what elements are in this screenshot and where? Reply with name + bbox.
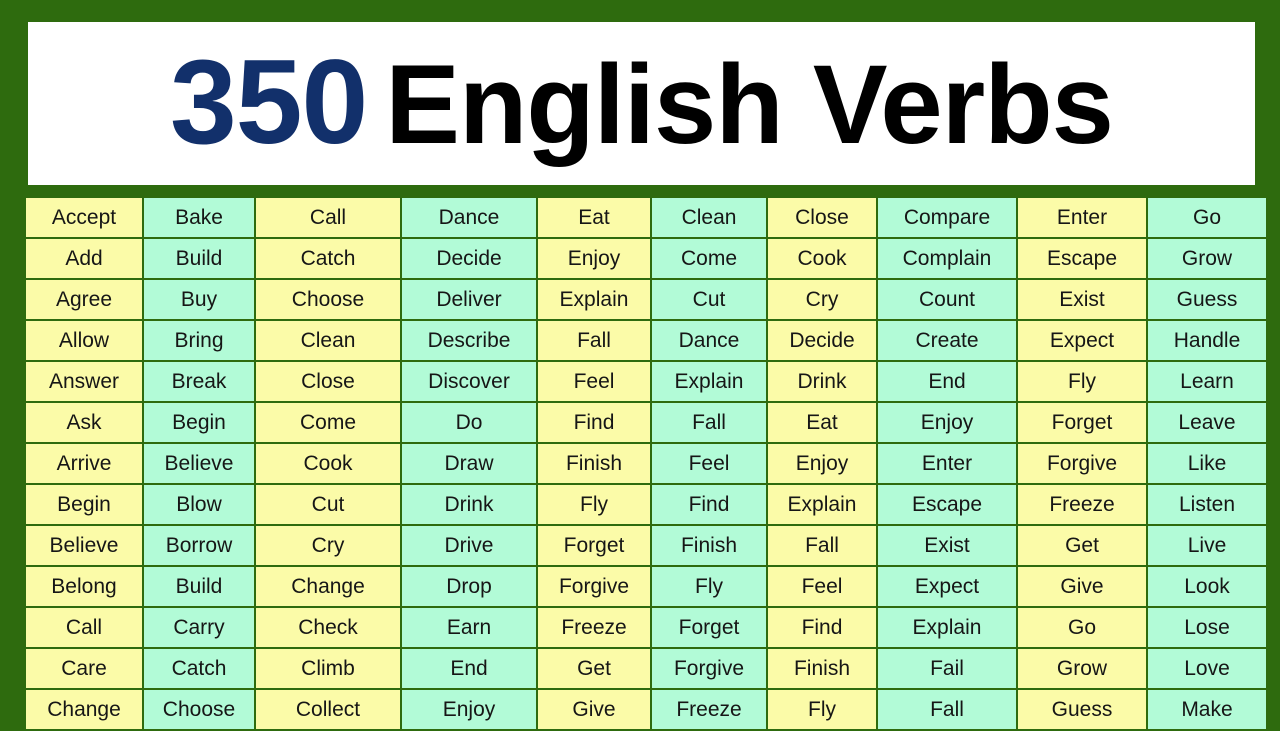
verb-cell: Fall [537, 320, 651, 361]
verb-cell: Look [1147, 566, 1267, 607]
verb-cell: Accept [25, 197, 143, 238]
verb-cell: Go [1017, 607, 1147, 648]
verb-cell: Count [877, 279, 1017, 320]
verb-cell: Explain [877, 607, 1017, 648]
table-row: BeginBlowCutDrinkFlyFindExplainEscapeFre… [25, 484, 1267, 525]
verb-cell: Clean [255, 320, 401, 361]
page-title: 350 English Verbs [170, 42, 1113, 162]
verb-cell: Discover [401, 361, 537, 402]
verb-cell: Climb [255, 648, 401, 689]
verb-cell: Handle [1147, 320, 1267, 361]
verb-cell: Fly [1017, 361, 1147, 402]
verb-cell: End [877, 361, 1017, 402]
verb-cell: Call [255, 197, 401, 238]
verb-cell: Exist [877, 525, 1017, 566]
verb-cell: Fly [537, 484, 651, 525]
table-row: AllowBringCleanDescribeFallDanceDecideCr… [25, 320, 1267, 361]
verb-cell: Decide [401, 238, 537, 279]
verb-cell: Add [25, 238, 143, 279]
verb-cell: Begin [143, 402, 255, 443]
verb-cell: Find [767, 607, 877, 648]
verb-cell: Feel [537, 361, 651, 402]
verb-cell: Earn [401, 607, 537, 648]
verb-cell: Find [651, 484, 767, 525]
verb-cell: Guess [1017, 689, 1147, 730]
verb-cell: Explain [651, 361, 767, 402]
verb-cell: Bring [143, 320, 255, 361]
verb-cell: Begin [25, 484, 143, 525]
verb-cell: Give [1017, 566, 1147, 607]
verb-cell: Come [255, 402, 401, 443]
verb-cell: Call [25, 607, 143, 648]
verb-cell: Build [143, 238, 255, 279]
verb-cell: Give [537, 689, 651, 730]
verb-cell: Break [143, 361, 255, 402]
verb-cell: Like [1147, 443, 1267, 484]
verb-cell: Cry [255, 525, 401, 566]
table-row: AgreeBuyChooseDeliverExplainCutCryCountE… [25, 279, 1267, 320]
verb-cell: Ask [25, 402, 143, 443]
verb-cell: Guess [1147, 279, 1267, 320]
verb-cell: Freeze [1017, 484, 1147, 525]
verb-cell: Cook [255, 443, 401, 484]
verb-cell: Build [143, 566, 255, 607]
verb-cell: Leave [1147, 402, 1267, 443]
verb-cell: Explain [537, 279, 651, 320]
verb-cell: Finish [767, 648, 877, 689]
verb-cell: Expect [1017, 320, 1147, 361]
verb-cell: Exist [1017, 279, 1147, 320]
verb-cell: Answer [25, 361, 143, 402]
verb-cell: Cut [255, 484, 401, 525]
verb-cell: Catch [143, 648, 255, 689]
verb-cell: Go [1147, 197, 1267, 238]
verb-cell: Allow [25, 320, 143, 361]
verb-cell: Forgive [1017, 443, 1147, 484]
verb-cell: Feel [651, 443, 767, 484]
verb-cell: Choose [143, 689, 255, 730]
verb-cell: Expect [877, 566, 1017, 607]
verb-cell: Create [877, 320, 1017, 361]
verb-cell: Finish [537, 443, 651, 484]
table-row: AcceptBakeCallDanceEatCleanCloseCompareE… [25, 197, 1267, 238]
verb-cell: Blow [143, 484, 255, 525]
verb-cell: Finish [651, 525, 767, 566]
table-row: ChangeChooseCollectEnjoyGiveFreezeFlyFal… [25, 689, 1267, 730]
verb-cell: Believe [25, 525, 143, 566]
table-row: BelieveBorrowCryDriveForgetFinishFallExi… [25, 525, 1267, 566]
verb-cell: Enter [1017, 197, 1147, 238]
verb-cell: Fall [877, 689, 1017, 730]
verb-cell: Fly [767, 689, 877, 730]
verb-cell: End [401, 648, 537, 689]
verb-cell: Check [255, 607, 401, 648]
verb-cell: Belong [25, 566, 143, 607]
verb-cell: Drive [401, 525, 537, 566]
verb-cell: Enjoy [877, 402, 1017, 443]
verb-cell: Grow [1147, 238, 1267, 279]
table-row: CareCatchClimbEndGetForgiveFinishFailGro… [25, 648, 1267, 689]
verb-cell: Dance [401, 197, 537, 238]
verb-cell: Forgive [651, 648, 767, 689]
verb-cell: Do [401, 402, 537, 443]
verb-cell: Eat [767, 402, 877, 443]
verb-cell: Get [537, 648, 651, 689]
verb-cell: Fail [877, 648, 1017, 689]
header-banner: 350 English Verbs [28, 22, 1255, 185]
verb-cell: Find [537, 402, 651, 443]
verb-cell: Grow [1017, 648, 1147, 689]
verb-cell: Learn [1147, 361, 1267, 402]
table-row: AskBeginComeDoFindFallEatEnjoyForgetLeav… [25, 402, 1267, 443]
verb-cell: Drop [401, 566, 537, 607]
verb-cell: Drink [401, 484, 537, 525]
verb-cell: Fall [651, 402, 767, 443]
table-row: AddBuildCatchDecideEnjoyComeCookComplain… [25, 238, 1267, 279]
verb-count: 350 [170, 42, 367, 162]
verb-table: AcceptBakeCallDanceEatCleanCloseCompareE… [24, 196, 1268, 731]
table-row: ArriveBelieveCookDrawFinishFeelEnjoyEnte… [25, 443, 1267, 484]
verb-cell: Lose [1147, 607, 1267, 648]
verb-cell: Compare [877, 197, 1017, 238]
verb-cell: Complain [877, 238, 1017, 279]
verb-cell: Decide [767, 320, 877, 361]
verb-cell: Agree [25, 279, 143, 320]
verb-cell: Close [255, 361, 401, 402]
table-row: CallCarryCheckEarnFreezeForgetFindExplai… [25, 607, 1267, 648]
verb-cell: Make [1147, 689, 1267, 730]
verb-cell: Explain [767, 484, 877, 525]
verb-cell: Change [25, 689, 143, 730]
verb-cell: Forget [651, 607, 767, 648]
verb-cell: Catch [255, 238, 401, 279]
verb-cell: Enjoy [401, 689, 537, 730]
verb-cell: Enjoy [537, 238, 651, 279]
verb-cell: Forget [1017, 402, 1147, 443]
verb-cell: Cut [651, 279, 767, 320]
verb-cell: Cry [767, 279, 877, 320]
verb-cell: Deliver [401, 279, 537, 320]
verb-cell: Describe [401, 320, 537, 361]
verb-cell: Carry [143, 607, 255, 648]
verb-cell: Freeze [537, 607, 651, 648]
verb-cell: Change [255, 566, 401, 607]
verb-cell: Love [1147, 648, 1267, 689]
verb-cell: Forget [537, 525, 651, 566]
verb-cell: Dance [651, 320, 767, 361]
verb-cell: Choose [255, 279, 401, 320]
verb-cell: Believe [143, 443, 255, 484]
verb-cell: Buy [143, 279, 255, 320]
verb-cell: Forgive [537, 566, 651, 607]
verb-cell: Get [1017, 525, 1147, 566]
verb-cell: Fall [767, 525, 877, 566]
title-label: English Verbs [385, 49, 1113, 161]
verb-cell: Close [767, 197, 877, 238]
verb-cell: Enter [877, 443, 1017, 484]
table-row: BelongBuildChangeDropForgiveFlyFeelExpec… [25, 566, 1267, 607]
verb-cell: Draw [401, 443, 537, 484]
verb-cell: Clean [651, 197, 767, 238]
verb-cell: Collect [255, 689, 401, 730]
verb-cell: Live [1147, 525, 1267, 566]
verb-cell: Borrow [143, 525, 255, 566]
verb-cell: Enjoy [767, 443, 877, 484]
verb-cell: Fly [651, 566, 767, 607]
verb-cell: Drink [767, 361, 877, 402]
verb-cell: Listen [1147, 484, 1267, 525]
verb-cell: Care [25, 648, 143, 689]
verb-cell: Cook [767, 238, 877, 279]
verb-cell: Eat [537, 197, 651, 238]
table-row: AnswerBreakCloseDiscoverFeelExplainDrink… [25, 361, 1267, 402]
verb-cell: Freeze [651, 689, 767, 730]
verb-cell: Escape [1017, 238, 1147, 279]
verb-table-body: AcceptBakeCallDanceEatCleanCloseCompareE… [25, 197, 1267, 730]
verb-cell: Escape [877, 484, 1017, 525]
verb-cell: Bake [143, 197, 255, 238]
verb-cell: Arrive [25, 443, 143, 484]
verb-cell: Come [651, 238, 767, 279]
poster-root: 350 English Verbs vocabarep.com AcceptBa… [0, 0, 1280, 720]
verb-cell: Feel [767, 566, 877, 607]
